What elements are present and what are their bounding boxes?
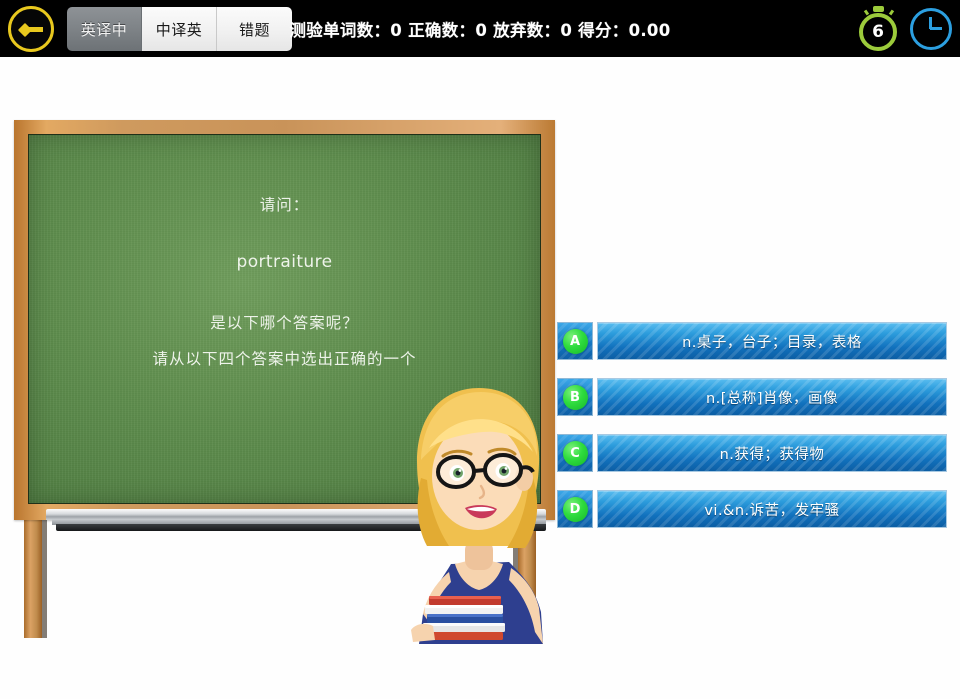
stopwatch-icon: 6 [859, 13, 897, 51]
question-word: portraiture [29, 252, 540, 272]
clock-minute-hand [930, 27, 942, 30]
option-c-label: n.获得；获得物 [720, 443, 825, 464]
option-c-letter: C [563, 441, 588, 466]
answer-options: A n.桌子，台子；目录，表格 B n.[总称]肖像，画像 C n.获得；获得物 [557, 322, 947, 546]
question-prompt: 请问： [29, 193, 540, 215]
books-stack [423, 596, 505, 640]
tab-en-to-cn-label: 英译中 [81, 19, 128, 40]
teacher-avatar [393, 382, 558, 644]
option-b-label: n.[总称]肖像，画像 [706, 387, 838, 408]
option-a[interactable]: A n.桌子，台子；目录，表格 [557, 322, 947, 360]
tab-wrong-questions-label: 错题 [239, 19, 270, 40]
question-line-1: 是以下哪个答案呢？ [29, 311, 540, 333]
option-d[interactable]: D vi.&n.诉苦，发牢骚 [557, 490, 947, 528]
clock-button[interactable] [908, 6, 954, 52]
option-b[interactable]: B n.[总称]肖像，画像 [557, 378, 947, 416]
top-bar: 英译中 中译英 错题 测验单词数：0 正确数：0 放弃数：0 得分：0.00 6 [0, 0, 960, 57]
stats-text: 测验单词数：0 正确数：0 放弃数：0 得分：0.00 [290, 17, 671, 41]
option-a-letter: A [563, 329, 588, 354]
option-a-bar[interactable]: n.桌子，台子；目录，表格 [597, 322, 947, 360]
option-d-badge: D [557, 490, 593, 528]
option-d-bar[interactable]: vi.&n.诉苦，发牢骚 [597, 490, 947, 528]
back-arrow-icon [19, 22, 43, 36]
option-b-letter: B [563, 385, 588, 410]
quiz-screen: 英译中 中译英 错题 测验单词数：0 正确数：0 放弃数：0 得分：0.00 6 [0, 0, 960, 699]
option-b-badge: B [557, 378, 593, 416]
option-c[interactable]: C n.获得；获得物 [557, 434, 947, 472]
option-a-label: n.桌子，台子；目录，表格 [682, 331, 862, 352]
option-d-label: vi.&n.诉苦，发牢骚 [704, 499, 839, 520]
stopwatch-tick-right-icon [889, 10, 894, 16]
option-c-bar[interactable]: n.获得；获得物 [597, 434, 947, 472]
question-line-2: 请从以下四个答案中选出正确的一个 [29, 347, 540, 369]
option-c-badge: C [557, 434, 593, 472]
tab-cn-to-en-label: 中译英 [156, 19, 203, 40]
back-button[interactable] [8, 6, 54, 52]
mode-tabs: 英译中 中译英 错题 [67, 7, 292, 51]
option-a-badge: A [557, 322, 593, 360]
tab-cn-to-en[interactable]: 中译英 [142, 7, 217, 51]
option-b-bar[interactable]: n.[总称]肖像，画像 [597, 378, 947, 416]
option-d-letter: D [563, 497, 588, 522]
tab-wrong-questions[interactable]: 错题 [217, 7, 292, 51]
stopwatch-value: 6 [872, 24, 884, 41]
tab-en-to-cn[interactable]: 英译中 [67, 7, 142, 51]
board-leg-shadow-left [42, 520, 47, 638]
stopwatch-crown-icon [873, 6, 884, 12]
stopwatch-button[interactable]: 6 [856, 5, 902, 53]
timer-group: 6 [856, 4, 954, 54]
